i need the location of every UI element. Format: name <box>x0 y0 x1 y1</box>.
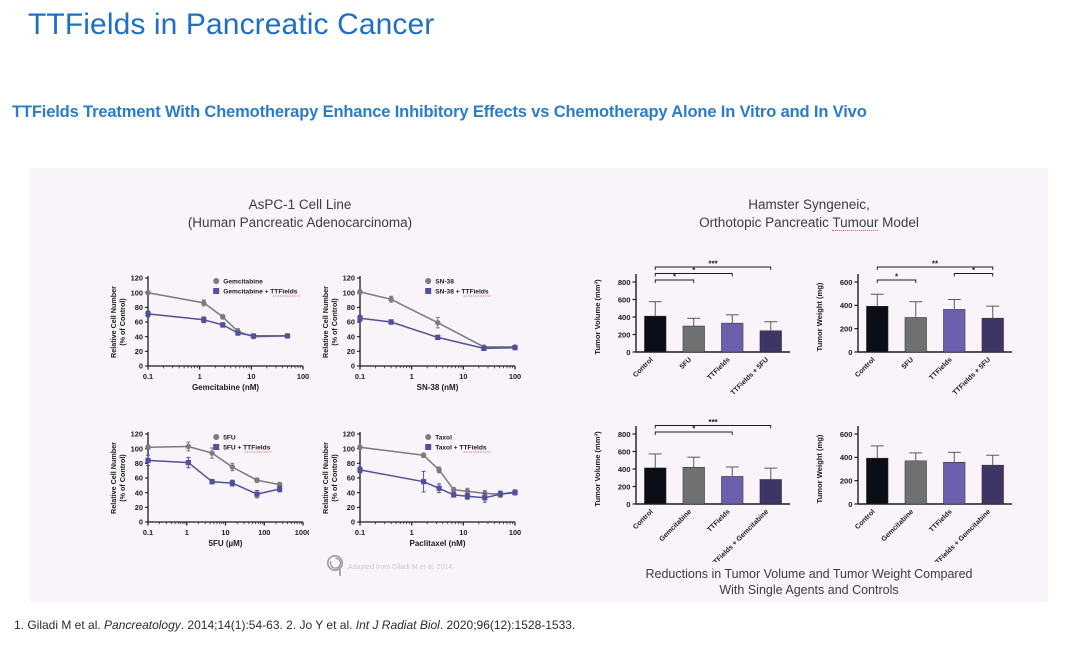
bar <box>943 309 965 352</box>
x-tick-label: 1 <box>185 528 189 537</box>
legend-label: 5FU + TTFields <box>223 445 270 452</box>
data-point <box>230 464 235 469</box>
data-point <box>209 450 214 455</box>
data-point <box>220 322 225 327</box>
data-point <box>186 460 191 465</box>
chart-tumor-weight-gem: 0200400600Tumor Weight (mg)ControlGemcit… <box>812 412 1022 562</box>
y-axis-label: Tumor Weight (mg) <box>815 434 824 503</box>
y-tick-label: 80 <box>135 303 143 312</box>
bar <box>943 462 965 504</box>
right-heading-line1: Hamster Syngeneic, <box>570 196 1048 214</box>
x-tick-label: 1 <box>410 372 414 381</box>
data-point <box>512 345 517 350</box>
legend-marker <box>213 278 219 284</box>
y-tick-label: 80 <box>347 303 355 312</box>
bar <box>721 476 743 504</box>
y-tick-label: 120 <box>343 430 355 439</box>
data-point <box>357 289 362 294</box>
data-point <box>254 492 259 497</box>
y-axis-label: Relative Cell Number <box>109 442 118 514</box>
y-tick-label: 400 <box>618 313 631 322</box>
sn38-curve-svg: 0204060801001200.1110100Relative Cell Nu… <box>316 262 521 410</box>
references-footer: 1. Giladi M et al. Pancreatology. 2014;1… <box>14 618 575 632</box>
y-axis-label: (% of Control) <box>118 298 127 346</box>
y-axis-label: Relative Cell Number <box>109 286 118 358</box>
y-tick-label: 20 <box>135 503 143 512</box>
y-tick-label: 200 <box>840 476 853 485</box>
data-point <box>498 492 503 497</box>
x-axis-label: SN-38 (nM) <box>417 383 459 392</box>
y-tick-label: 0 <box>351 518 355 527</box>
y-tick-label: 0 <box>626 348 630 357</box>
x-category-label: TTFields + 5FU <box>952 356 992 396</box>
bar <box>905 317 927 352</box>
y-tick-label: 40 <box>347 332 355 341</box>
data-point <box>436 467 441 472</box>
ref1-suffix: . 2014;14(1):54-63. <box>181 618 286 632</box>
y-tick-label: 400 <box>840 301 853 310</box>
y-axis-label: (% of Control) <box>118 454 127 502</box>
y-tick-label: 60 <box>135 474 143 483</box>
y-tick-label: 20 <box>347 503 355 512</box>
y-tick-label: 100 <box>131 444 143 453</box>
x-category-label: TTFields <box>928 356 953 381</box>
chart-gemcitabine-curve: 0204060801001200.1110100Relative Cell Nu… <box>104 262 309 410</box>
ref2-prefix: 2. Jo Y et al. <box>286 618 356 632</box>
legend-marker <box>425 278 431 284</box>
bar <box>760 331 782 352</box>
x-category-label: Control <box>854 508 877 531</box>
y-tick-label: 800 <box>618 430 631 439</box>
right-heading-post: Model <box>878 215 919 230</box>
legend-label: SN-38 <box>435 279 454 286</box>
series-line <box>148 314 287 336</box>
y-tick-label: 40 <box>135 332 143 341</box>
y-tick-label: 800 <box>618 278 631 287</box>
bar <box>721 323 743 352</box>
y-axis-label: Tumor Volume (mm³) <box>593 431 602 507</box>
data-point <box>285 333 290 338</box>
x-tick-label: 10 <box>247 372 255 381</box>
x-tick-label: 1000 <box>295 528 309 537</box>
left-heading-line1: AsPC-1 Cell Line <box>30 196 570 214</box>
data-point <box>435 335 440 340</box>
y-tick-label: 60 <box>135 318 143 327</box>
y-axis-label: Relative Cell Number <box>321 442 330 514</box>
ref1-journal: Pancreatology <box>104 618 181 632</box>
y-axis-label: (% of Control) <box>330 454 339 502</box>
x-tick-label: 100 <box>509 528 521 537</box>
legend-marker <box>425 444 431 450</box>
data-point <box>437 486 442 491</box>
chart-5fu-curve: 0204060801001200.11101001000Relative Cel… <box>104 418 309 566</box>
data-point <box>389 319 394 324</box>
chart-tumor-volume-gem: 0200400600800Tumor Volume (mm³)ControlGe… <box>590 412 800 562</box>
right-panel-heading: Hamster Syngeneic, Orthotopic Pancreatic… <box>570 196 1048 232</box>
content-panel: AsPC-1 Cell Line (Human Pancreatic Adeno… <box>30 168 1048 602</box>
y-tick-label: 0 <box>626 500 630 509</box>
caption-line1: Reductions in Tumor Volume and Tumor Wei… <box>570 566 1048 582</box>
y-tick-label: 20 <box>135 347 143 356</box>
data-point <box>421 453 426 458</box>
data-point <box>201 317 206 322</box>
data-point <box>482 495 487 500</box>
x-category-label: Gemcitabine <box>881 508 916 543</box>
legend-marker <box>213 434 219 440</box>
y-tick-label: 100 <box>131 288 143 297</box>
data-point <box>357 316 362 321</box>
x-tick-label: 0.1 <box>355 528 365 537</box>
x-category-label: TTFields <box>706 508 731 533</box>
legend-label: SN-38 + TTFields <box>435 289 489 296</box>
data-point <box>220 314 225 319</box>
x-category-label: Control <box>632 356 655 379</box>
data-point <box>235 330 240 335</box>
data-point <box>465 494 470 499</box>
series-line <box>148 293 287 337</box>
data-point <box>145 458 150 463</box>
x-tick-label: 100 <box>258 528 270 537</box>
data-point <box>209 479 214 484</box>
y-tick-label: 0 <box>351 362 355 371</box>
adapted-from-note: Adapted from Giladi M et al. 2014 <box>348 564 548 571</box>
x-tick-label: 0.1 <box>143 372 153 381</box>
data-point <box>251 333 256 338</box>
x-tick-label: 10 <box>459 372 467 381</box>
data-point <box>357 467 362 472</box>
bar <box>683 467 705 504</box>
data-point <box>451 492 456 497</box>
x-category-label: TTFields <box>928 508 953 533</box>
y-tick-label: 60 <box>347 318 355 327</box>
ref1-prefix: 1. Giladi M et al. <box>14 618 104 632</box>
slide-subtitle: TTFields Treatment With Chemotherapy Enh… <box>12 103 867 122</box>
y-tick-label: 60 <box>347 474 355 483</box>
data-point <box>186 444 191 449</box>
data-point <box>421 479 426 484</box>
data-point <box>254 478 259 483</box>
y-tick-label: 600 <box>618 447 631 456</box>
legend-marker <box>425 434 431 440</box>
y-tick-label: 120 <box>131 274 143 283</box>
5fu-curve-svg: 0204060801001200.11101001000Relative Cel… <box>104 418 309 566</box>
legend-label: Gemcitabine + TTFields <box>223 289 298 296</box>
x-tick-label: 0.1 <box>143 528 153 537</box>
page-title: TTFields in Pancreatic Cancer <box>28 8 434 42</box>
right-heading-line2: Orthotopic Pancreatic Tumour Model <box>570 214 1048 232</box>
y-axis-label: Tumor Volume (mm³) <box>593 279 602 355</box>
significance-label: *** <box>708 418 718 427</box>
gemcitabine-curve-svg: 0204060801001200.1110100Relative Cell Nu… <box>104 262 309 410</box>
chart-tumor-volume-5fu: 0200400600800Tumor Volume (mm³)Control5F… <box>590 260 800 410</box>
data-point <box>357 445 362 450</box>
dose-response-grid: 0204060801001200.1110100Relative Cell Nu… <box>104 262 534 562</box>
bar-chart-grid: 0200400600800Tumor Volume (mm³)Control5F… <box>590 260 1036 560</box>
x-tick-label: 100 <box>509 372 521 381</box>
left-heading-line2: (Human Pancreatic Adenocarcinoma) <box>30 214 570 232</box>
data-point <box>481 346 486 351</box>
y-tick-label: 200 <box>618 330 631 339</box>
legend-marker <box>213 444 219 450</box>
y-tick-label: 200 <box>840 324 853 333</box>
right-panel-caption: Reductions in Tumor Volume and Tumor Wei… <box>570 566 1048 598</box>
x-axis-label: Paclitaxel (nM) <box>409 539 465 548</box>
significance-label: *** <box>708 260 718 269</box>
y-tick-label: 600 <box>840 430 853 439</box>
y-tick-label: 0 <box>139 362 143 371</box>
x-tick-label: 0.1 <box>355 372 365 381</box>
x-category-label: Control <box>632 508 655 531</box>
x-tick-label: 100 <box>297 372 309 381</box>
x-tick-label: 1 <box>198 372 202 381</box>
bar <box>683 326 705 352</box>
y-tick-label: 120 <box>131 430 143 439</box>
x-axis-label: Gemcitabine (nM) <box>192 383 259 392</box>
data-point <box>145 290 150 295</box>
chart-sn38-curve: 0204060801001200.1110100Relative Cell Nu… <box>316 262 521 410</box>
y-tick-label: 80 <box>347 459 355 468</box>
ref2-journal: Int J Radiat Biol <box>356 618 440 632</box>
y-tick-label: 100 <box>343 444 355 453</box>
y-tick-label: 0 <box>848 348 852 357</box>
y-axis-label: Tumor Weight (mg) <box>815 282 824 351</box>
y-tick-label: 600 <box>840 278 853 287</box>
bar <box>982 318 1004 352</box>
data-point <box>145 445 150 450</box>
x-tick-label: 1 <box>410 528 414 537</box>
caption-line2: With Single Agents and Controls <box>570 582 1048 598</box>
y-axis-label: (% of Control) <box>330 298 339 346</box>
ref2-suffix: . 2020;96(12):1528-1533. <box>440 618 575 632</box>
tumor-weight-5fu-svg: 0200400600Tumor Weight (mg)Control5FUTTF… <box>812 260 1022 410</box>
y-tick-label: 120 <box>343 274 355 283</box>
legend-marker <box>213 288 219 294</box>
bar <box>866 458 888 504</box>
x-category-label: Control <box>854 356 877 379</box>
tumor-weight-gem-svg: 0200400600Tumor Weight (mg)ControlGemcit… <box>812 412 1022 562</box>
legend-marker <box>425 288 431 294</box>
bar <box>644 468 666 504</box>
left-panel-heading: AsPC-1 Cell Line (Human Pancreatic Adeno… <box>30 196 570 232</box>
data-point <box>512 490 517 495</box>
slide-root: TTFields in Pancreatic Cancer TTFields T… <box>0 0 1080 649</box>
bar <box>760 480 782 505</box>
x-category-label: TTFields + 5FU <box>730 356 770 396</box>
tumor-volume-gem-svg: 0200400600800Tumor Volume (mm³)ControlGe… <box>590 412 800 562</box>
y-tick-label: 0 <box>848 500 852 509</box>
bar <box>866 306 888 352</box>
data-point <box>145 311 150 316</box>
y-tick-label: 0 <box>139 518 143 527</box>
in-vivo-section: Hamster Syngeneic, Orthotopic Pancreatic… <box>570 168 1048 602</box>
taxol-curve-svg: 0204060801001200.1110100Relative Cell Nu… <box>316 418 521 566</box>
chart-taxol-curve: 0204060801001200.1110100Relative Cell Nu… <box>316 418 521 566</box>
significance-label: ** <box>932 260 939 269</box>
x-category-label: TTFields <box>706 356 731 381</box>
bar <box>982 465 1004 504</box>
legend-label: Gemcitabine <box>223 279 263 286</box>
data-point <box>230 481 235 486</box>
tumour-spellcheck-word: Tumour <box>832 215 878 231</box>
x-category-label: 5FU <box>901 356 915 370</box>
y-tick-label: 20 <box>347 347 355 356</box>
magnifier-icon <box>326 554 348 578</box>
y-axis-label: Relative Cell Number <box>321 286 330 358</box>
y-tick-label: 40 <box>347 488 355 497</box>
y-tick-label: 600 <box>618 295 631 304</box>
y-tick-label: 100 <box>343 288 355 297</box>
y-tick-label: 400 <box>618 465 631 474</box>
legend-label: 5FU <box>223 435 236 442</box>
x-axis-label: 5FU (µM) <box>209 539 243 548</box>
series-line <box>148 460 280 494</box>
in-vitro-section: AsPC-1 Cell Line (Human Pancreatic Adeno… <box>30 168 570 602</box>
tumor-volume-5fu-svg: 0200400600800Tumor Volume (mm³)Control5F… <box>590 260 800 410</box>
bar <box>644 316 666 352</box>
legend-label: Taxol <box>435 435 452 442</box>
y-tick-label: 40 <box>135 488 143 497</box>
y-tick-label: 400 <box>840 453 853 462</box>
chart-tumor-weight-5fu: 0200400600Tumor Weight (mg)Control5FUTTF… <box>812 260 1022 410</box>
y-tick-label: 80 <box>135 459 143 468</box>
x-tick-label: 10 <box>221 528 229 537</box>
right-heading-pre: Orthotopic Pancreatic <box>699 215 832 230</box>
bar <box>905 461 927 504</box>
legend-label: Taxol + TTFields <box>435 445 487 452</box>
data-point <box>435 320 440 325</box>
x-category-label: Gemcitabine <box>659 508 694 543</box>
x-category-label: 5FU <box>679 356 693 370</box>
x-tick-label: 10 <box>459 528 467 537</box>
data-point <box>277 486 282 491</box>
y-tick-label: 200 <box>618 482 631 491</box>
data-point <box>201 300 206 305</box>
data-point <box>451 487 456 492</box>
data-point <box>388 297 393 302</box>
